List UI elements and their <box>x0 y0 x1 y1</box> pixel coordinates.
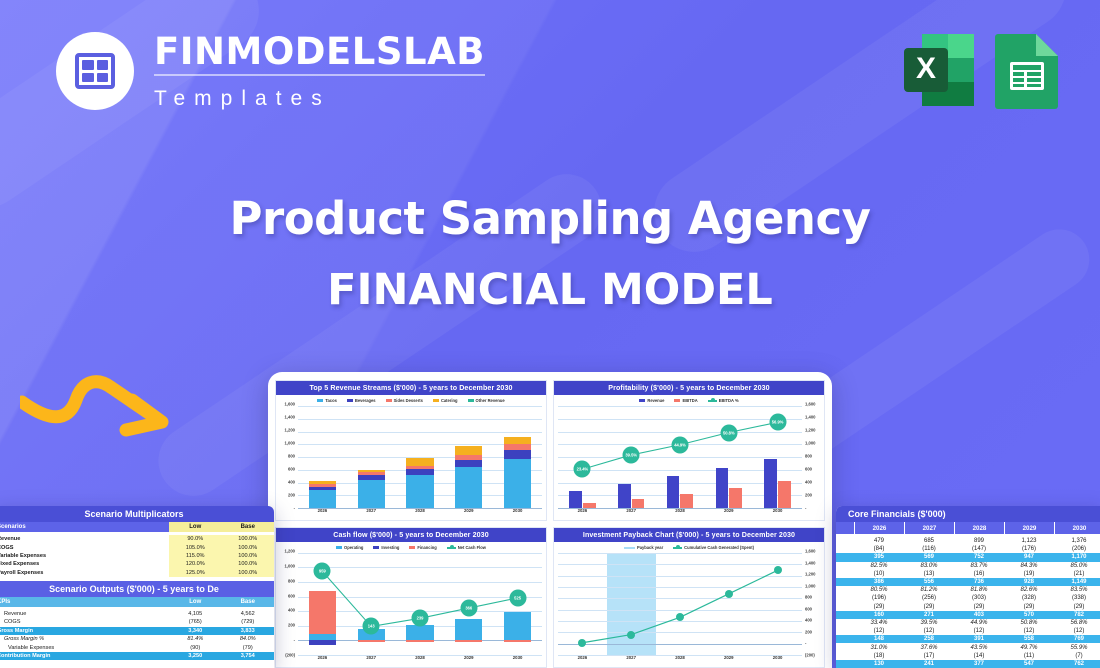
data-label: 239 <box>412 610 429 627</box>
table-row: 3865567369281,149 <box>836 578 1100 586</box>
chart-title-revenue-streams: Top 5 Revenue Streams ($'000) - 5 years … <box>276 381 546 395</box>
data-label: 525 <box>509 589 526 606</box>
chart-title-investment-payback: Investment Payback Chart ($'000) - 5 yea… <box>554 528 824 542</box>
legend-item: Sides Desserts <box>386 398 423 403</box>
data-point <box>676 613 684 621</box>
legend-item: Cumulative Cash Generated (Spent) <box>673 545 754 550</box>
chart-plot-profitability: - 200 400 600 800 1,000 1,200 1,400 1,60… <box>554 404 824 520</box>
file-format-badges: X <box>902 30 1064 110</box>
col-header-2030: 2030 <box>1054 522 1100 534</box>
data-label: 959 <box>314 563 331 580</box>
core-financials-panel[interactable]: Core Financials ($'000) 2026 2027 2028 2… <box>836 506 1100 668</box>
table-row: 82.5%83.0%83.7%84.3%85.0% <box>836 562 1100 570</box>
arrow-left-decoration <box>20 360 200 450</box>
y-axis-cash-flow: (200) - 200 400 600 800 1,000 1,200 <box>276 551 297 655</box>
col-header-base: Base <box>222 597 275 607</box>
col-header-2027: 2027 <box>904 522 954 534</box>
data-point <box>627 631 635 639</box>
col-header-2028: 2028 <box>954 522 1004 534</box>
page-subtitle: FINANCIAL MODEL <box>0 265 1100 315</box>
table-row: Variable Expenses(90)(79) <box>0 643 274 651</box>
table-row: 160271403570782 <box>836 611 1100 619</box>
chart-legend-profitability: Revenue EBITDA EBITDA % <box>554 395 824 404</box>
chart-legend-cash-flow: Operating Investing Financing Net Cash F… <box>276 542 546 551</box>
core-financials-header: 2026 2027 2028 2029 2030 <box>836 522 1100 534</box>
table-row: Revenue4,1054,562 <box>0 610 274 618</box>
scenario-multiplicators-header: Scenarios Low Base <box>0 522 274 532</box>
chart-panel-investment-payback[interactable]: Investment Payback Chart ($'000) - 5 yea… <box>553 527 825 668</box>
legend-item: Net Cash Flow <box>447 545 486 550</box>
x-axis-profitability: 2026 2027 2028 2029 2030 <box>558 508 802 520</box>
col-header-kpis: KPIs <box>0 597 169 607</box>
data-point <box>578 639 586 647</box>
scenario-tables-panel[interactable]: Scenario Multiplicators Scenarios Low Ba… <box>0 506 274 668</box>
plot-area <box>558 553 802 655</box>
table-row: 33.4%39.5%44.9%50.8%56.8% <box>836 619 1100 627</box>
legend-item: EBITDA % <box>708 398 739 403</box>
table-row: (29)(29)(29)(29)(29) <box>836 603 1100 611</box>
table-row: Fixed Expenses120.0%100.0% <box>0 560 274 568</box>
page-title: Product Sampling Agency <box>0 192 1100 245</box>
legend-item: Operating <box>336 545 363 550</box>
google-sheets-icon <box>990 30 1064 110</box>
chart-plot-cash-flow: (200) - 200 400 600 800 1,000 1,200 <box>276 551 546 667</box>
table-row: 130241377547762 <box>836 660 1100 668</box>
table-row: COGS105.0%100.0% <box>0 543 274 551</box>
dashboard-preview[interactable]: Top 5 Revenue Streams ($'000) - 5 years … <box>268 372 832 668</box>
chart-plot-revenue-streams: - 200 400 600 800 1,000 1,200 1,400 1,60… <box>276 404 546 520</box>
table-row: (10)(13)(16)(19)(21) <box>836 570 1100 578</box>
plot-area: 959 143 239 366 525 <box>298 553 542 655</box>
cumulative-cash-line <box>558 553 802 655</box>
legend-item: Other Revenue <box>468 398 505 403</box>
legend-item: Catering <box>433 398 458 403</box>
y-axis-profitability: - 200 400 600 800 1,000 1,200 1,400 1,60… <box>803 404 824 508</box>
table-row: Payroll Expenses125.0%100.0% <box>0 569 274 577</box>
data-label: 39.5% <box>623 446 640 463</box>
chart-panel-profitability[interactable]: Profitability ($'000) - 5 years to Decem… <box>553 380 825 521</box>
y-axis-revenue-streams: - 200 400 600 800 1,000 1,200 1,400 1,60… <box>276 404 297 508</box>
brand-tagline: Templates <box>154 88 485 109</box>
data-label: 143 <box>363 618 380 635</box>
brand-logo: FINMODELSLAB Templates <box>56 32 485 110</box>
table-row: 3955697529471,170 <box>836 553 1100 561</box>
legend-item: Tacos <box>317 398 337 403</box>
table-row: COGS(765)(729) <box>0 618 274 626</box>
x-axis-revenue-streams: 2026 2027 2028 2029 2030 <box>298 508 542 520</box>
data-label: 50.8% <box>720 424 737 441</box>
legend-item: Beverages <box>347 398 376 403</box>
svg-text:X: X <box>916 52 936 85</box>
table-row: (18)(17)(14)(11)(7) <box>836 652 1100 660</box>
legend-item: Investing <box>373 545 399 550</box>
table-row: Gross Margin3,3403,833 <box>0 627 274 635</box>
col-header-2029: 2029 <box>1004 522 1054 534</box>
chart-legend-revenue-streams: Tacos Beverages Sides Desserts Catering … <box>276 395 546 404</box>
scenario-multiplicators-banner: Scenario Multiplicators <box>0 506 274 522</box>
net-cash-flow-line <box>298 553 542 655</box>
legend-item: EBITDA <box>674 398 697 403</box>
grid-logo-icon <box>56 32 134 110</box>
plot-area: 23.4% 39.5% 44.9% 50.8% 56.9% <box>558 406 802 508</box>
x-axis-cash-flow: 2026 2027 2028 2029 2030 <box>298 655 542 667</box>
scenario-outputs-banner: Scenario Outputs ($'000) - 5 years to De <box>0 581 274 597</box>
scenario-outputs-header: KPIs Low Base <box>0 597 274 607</box>
table-row: 80.5%81.2%81.8%82.6%83.5% <box>836 586 1100 594</box>
table-row: (84)(116)(147)(176)(206) <box>836 545 1100 553</box>
table-row: Variable Expenses115.0%100.0% <box>0 552 274 560</box>
chart-panel-cash-flow[interactable]: Cash flow ($'000) - 5 years to December … <box>275 527 547 668</box>
ebitda-pct-line <box>558 406 802 508</box>
legend-item: Payback year <box>624 545 663 550</box>
data-label: 23.4% <box>574 461 591 478</box>
legend-item: Revenue <box>639 398 664 403</box>
data-label: 366 <box>460 600 477 617</box>
data-point <box>774 566 782 574</box>
table-row: Contribution Margin3,2503,754 <box>0 652 274 660</box>
x-axis-investment-payback: 2026 2027 2028 2029 2030 <box>558 655 802 667</box>
plot-area <box>298 406 542 508</box>
chart-plot-investment-payback: (200) - 200 400 600 800 1,000 1,200 1,40… <box>554 551 824 667</box>
data-label: 44.9% <box>672 436 689 453</box>
excel-icon: X <box>902 30 976 110</box>
data-label: 56.9% <box>769 414 786 431</box>
core-financials-banner: Core Financials ($'000) <box>836 506 1100 522</box>
table-row: (196)(256)(303)(328)(338) <box>836 594 1100 602</box>
col-header-low: Low <box>169 522 222 532</box>
col-header-base: Base <box>222 522 275 532</box>
chart-legend-investment-payback: Payback year Cumulative Cash Generated (… <box>554 542 824 551</box>
brand-divider <box>154 74 485 76</box>
table-row: 31.0%37.6%43.5%49.7%55.9% <box>836 643 1100 651</box>
data-point <box>725 590 733 598</box>
col-header-2026: 2026 <box>854 522 904 534</box>
table-row: (12)(12)(12)(12)(12) <box>836 627 1100 635</box>
chart-title-cash-flow: Cash flow ($'000) - 5 years to December … <box>276 528 546 542</box>
table-row: Gross Margin %81.4%84.0% <box>0 635 274 643</box>
table-row: 148258391558769 <box>836 635 1100 643</box>
col-header-low: Low <box>169 597 222 607</box>
col-header-scenarios: Scenarios <box>0 522 169 532</box>
table-row: 4796858991,1231,376 <box>836 537 1100 545</box>
table-row: Revenue90.0%100.0% <box>0 535 274 543</box>
chart-panel-revenue-streams[interactable]: Top 5 Revenue Streams ($'000) - 5 years … <box>275 380 547 521</box>
legend-item: Financing <box>409 545 436 550</box>
y-axis-investment-payback: (200) - 200 400 600 800 1,000 1,200 1,40… <box>803 551 824 655</box>
chart-title-profitability: Profitability ($'000) - 5 years to Decem… <box>554 381 824 395</box>
brand-name: FINMODELSLAB <box>154 33 485 70</box>
